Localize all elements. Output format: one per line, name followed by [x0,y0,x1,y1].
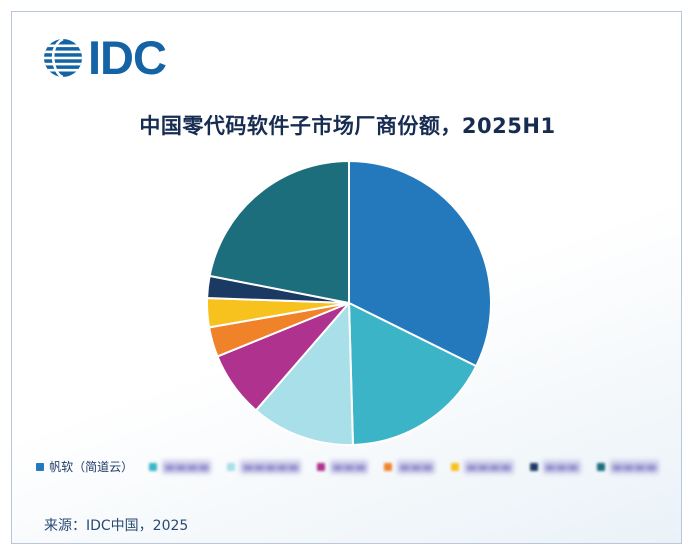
legend-swatch-icon [149,463,157,471]
legend-item-label: ▬▬▬▬ [610,460,659,474]
idc-logo: IDC [40,32,166,84]
page-title: 中国零代码软件子市场厂商份额，2025H1 [12,110,683,140]
legend-swatch-icon [530,463,538,471]
pie-chart [12,152,683,452]
legend-item[interactable]: ▬▬▬ [317,460,368,474]
legend-item-label: ▬▬▬▬ [464,460,513,474]
legend-item-label: ▬▬▬▬ [162,460,211,474]
legend-item-label: ▬▬▬ [330,460,368,474]
chart-legend: 帆软（简道云）▬▬▬▬▬▬▬▬▬▬▬▬▬▬▬▬▬▬▬▬▬▬▬▬▬▬ [12,460,683,474]
legend-item-label: ▬▬▬ [397,460,435,474]
legend-swatch-icon [36,463,44,471]
legend-item-label: ▬▬▬ [543,460,581,474]
idc-wordmark: IDC [88,35,166,81]
source-note: 来源：IDC中国，2025 [44,515,188,535]
idc-globe-icon [40,35,86,81]
legend-item-label: ▬▬▬▬▬ [240,460,301,474]
legend-item[interactable]: 帆软（简道云） [36,460,133,474]
legend-item[interactable]: ▬▬▬▬ [149,460,211,474]
legend-item[interactable]: ▬▬▬▬ [451,460,513,474]
legend-item-label: 帆软（简道云） [49,460,133,474]
legend-swatch-icon [317,463,325,471]
legend-item[interactable]: ▬▬▬▬▬ [227,460,301,474]
legend-swatch-icon [384,463,392,471]
legend-item[interactable]: ▬▬▬ [530,460,581,474]
legend-swatch-icon [227,463,235,471]
legend-item[interactable]: ▬▬▬▬ [597,460,659,474]
pie-slice-group [207,161,491,445]
legend-swatch-icon [597,463,605,471]
legend-swatch-icon [451,463,459,471]
pie-chart-svg [12,152,683,452]
legend-item[interactable]: ▬▬▬ [384,460,435,474]
report-card: IDC 中国零代码软件子市场厂商份额，2025H1 帆软（简道云）▬▬▬▬▬▬▬… [11,11,682,544]
